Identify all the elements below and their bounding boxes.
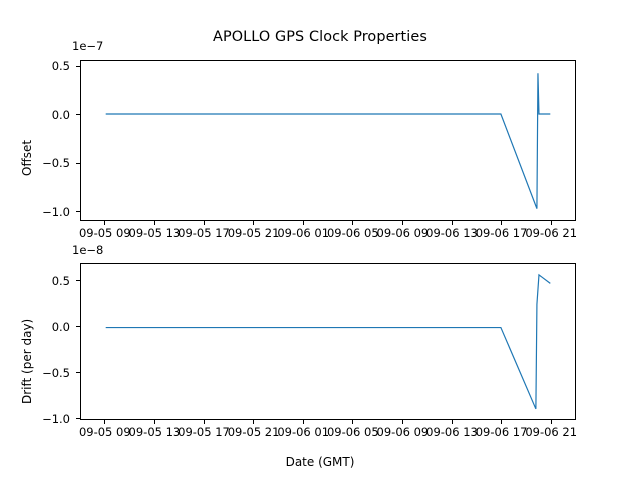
offset-xtick-mark-8 [501, 221, 502, 225]
offset-ytick-mark-0 [76, 66, 80, 67]
offset-plot-area [80, 60, 576, 221]
offset-xtick-mark-6 [402, 221, 403, 225]
drift-xtick-label-3: 09-05 21 [228, 426, 280, 439]
offset-xtick-label-2: 09-05 17 [178, 227, 230, 240]
drift-xtick-label-6: 09-06 09 [377, 426, 429, 439]
drift-xtick-mark-6 [402, 420, 403, 424]
drift-xtick-label-1: 09-05 13 [129, 426, 181, 439]
offset-xtick-label-4: 09-06 01 [277, 227, 329, 240]
drift-xtick-label-2: 09-05 17 [178, 426, 230, 439]
offset-xtick-label-0: 09-05 09 [79, 227, 131, 240]
offset-xtick-mark-1 [154, 221, 155, 225]
drift-xtick-mark-4 [303, 420, 304, 424]
drift-xtick-label-7: 09-06 13 [426, 426, 478, 439]
offset-ytick-label-1: 0.0 [26, 109, 70, 121]
drift-ytick-label-2: −0.5 [26, 367, 70, 379]
drift-xtick-mark-8 [501, 420, 502, 424]
drift-xtick-label-9: 09-06 21 [525, 426, 577, 439]
offset-axis-exponent: 1e−7 [72, 39, 103, 53]
drift-ytick-label-0: 0.5 [26, 275, 70, 287]
drift-xtick-mark-1 [154, 420, 155, 424]
drift-xtick-mark-2 [204, 420, 205, 424]
offset-xtick-label-7: 09-06 13 [426, 227, 478, 240]
drift-ytick-mark-1 [76, 326, 80, 327]
offset-xtick-mark-0 [104, 221, 105, 225]
offset-xtick-mark-5 [352, 221, 353, 225]
offset-xtick-label-6: 09-06 09 [377, 227, 429, 240]
drift-xtick-mark-5 [352, 420, 353, 424]
offset-ytick-mark-2 [76, 163, 80, 164]
drift-xtick-label-0: 09-05 09 [79, 426, 131, 439]
drift-ytick-mark-3 [76, 418, 80, 419]
drift-xtick-label-4: 09-06 01 [277, 426, 329, 439]
offset-ytick-mark-3 [76, 211, 80, 212]
offset-xtick-mark-2 [204, 221, 205, 225]
offset-ytick-label-2: −0.5 [26, 157, 70, 169]
drift-xtick-label-5: 09-06 05 [327, 426, 379, 439]
offset-xtick-label-1: 09-05 13 [129, 227, 181, 240]
drift-ytick-label-3: −1.0 [26, 413, 70, 425]
drift-data-line [106, 275, 551, 409]
xaxis-label: Date (GMT) [0, 455, 640, 469]
offset-ytick-mark-1 [76, 114, 80, 115]
matplotlib-figure: APOLLO GPS Clock Properties 1e−7 Offset … [0, 0, 640, 480]
drift-xtick-mark-3 [253, 420, 254, 424]
offset-xtick-mark-4 [303, 221, 304, 225]
offset-xtick-label-9: 09-06 21 [525, 227, 577, 240]
drift-ytick-label-1: 0.0 [26, 321, 70, 333]
drift-ytick-mark-2 [76, 372, 80, 373]
drift-series-svg [81, 264, 575, 419]
drift-xtick-mark-9 [551, 420, 552, 424]
offset-xtick-label-3: 09-05 21 [228, 227, 280, 240]
offset-data-line [106, 73, 551, 208]
offset-ytick-label-0: 0.5 [26, 60, 70, 72]
drift-xtick-mark-7 [452, 420, 453, 424]
offset-ytick-label-3: −1.0 [26, 206, 70, 218]
drift-xtick-mark-0 [104, 420, 105, 424]
drift-xtick-label-8: 09-06 17 [476, 426, 528, 439]
drift-plot-area [80, 263, 576, 420]
offset-xtick-label-5: 09-06 05 [327, 227, 379, 240]
offset-series-svg [81, 61, 575, 220]
drift-axis-exponent: 1e−8 [72, 243, 103, 257]
drift-ytick-mark-0 [76, 280, 80, 281]
offset-xtick-mark-9 [551, 221, 552, 225]
offset-xtick-mark-7 [452, 221, 453, 225]
offset-xtick-mark-3 [253, 221, 254, 225]
offset-xtick-label-8: 09-06 17 [476, 227, 528, 240]
